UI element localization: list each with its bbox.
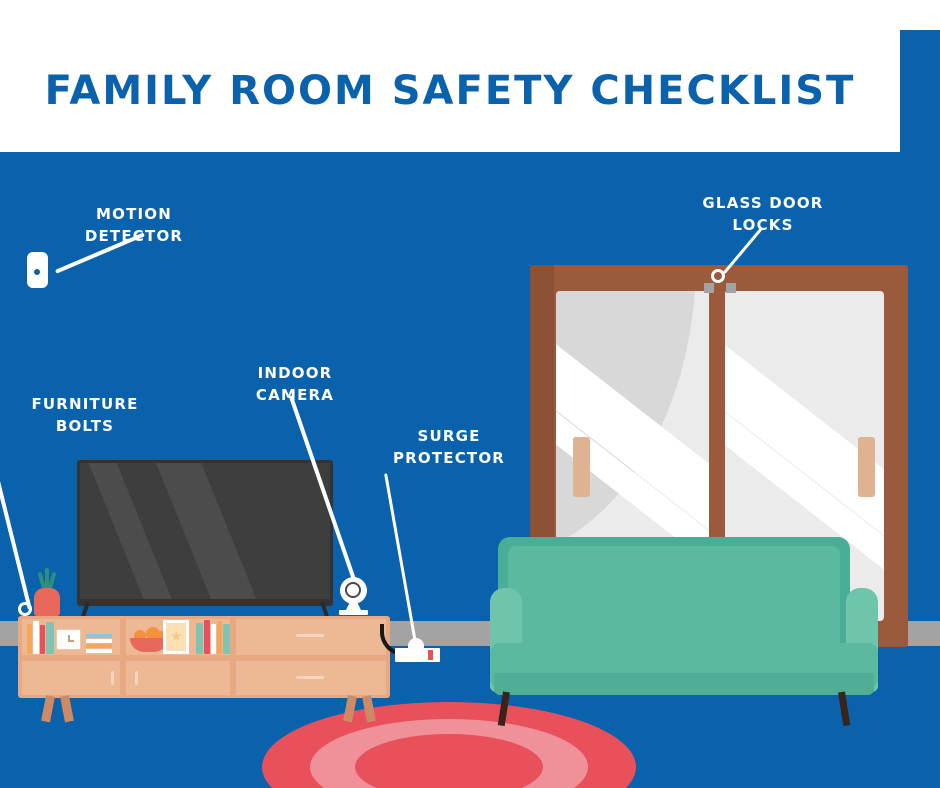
top-white-strip — [0, 0, 940, 30]
shelf-book — [211, 624, 216, 654]
shelf-clock — [56, 629, 81, 650]
callout-label-glass-door-locks: GLASS DOOR LOCKS — [690, 192, 836, 236]
callout-label-surge-protector: SURGE PROTECTOR — [376, 425, 522, 469]
shelf-book — [196, 623, 203, 654]
power-strip-icon[interactable] — [395, 648, 440, 662]
drawer-pull[interactable] — [135, 671, 138, 685]
stacked-book — [86, 649, 112, 653]
drawer-pull[interactable] — [296, 634, 324, 637]
stacked-book — [86, 639, 112, 643]
clock-hand-hour — [68, 640, 74, 642]
shelf-book — [27, 624, 32, 654]
shelf-book — [46, 622, 54, 654]
webcam-base — [339, 610, 368, 615]
stacked-book — [86, 644, 112, 648]
callout-label-furniture-bolts: FURNITURE BOLTS — [12, 393, 158, 437]
sofa-skirt — [494, 673, 874, 695]
power-strip-switch[interactable] — [428, 650, 433, 660]
title-banner: FAMILY ROOM SAFETY CHECKLIST — [0, 30, 900, 152]
camera-lens-icon — [345, 582, 361, 598]
tv-screen — [80, 463, 330, 599]
drawer-pull[interactable] — [111, 671, 114, 685]
door-handle-left[interactable] — [573, 437, 590, 497]
console-drawer[interactable] — [22, 661, 120, 695]
television — [77, 460, 333, 606]
callout-label-indoor-camera: INDOOR CAMERA — [222, 362, 368, 406]
door-handle-right[interactable] — [858, 437, 875, 497]
console-drawer[interactable] — [236, 619, 386, 655]
page-title: FAMILY ROOM SAFETY CHECKLIST — [45, 68, 856, 114]
drawer-pull[interactable] — [296, 676, 324, 679]
door-lock-icon[interactable] — [704, 283, 714, 293]
shelf-book — [33, 621, 39, 654]
infographic-canvas: ★ MOTION DETECTOR GLASS DOOR LOCKS FURNI… — [0, 0, 940, 788]
shelf-book — [204, 620, 210, 654]
callout-label-motion-detector: MOTION DETECTOR — [62, 203, 206, 247]
console-drawer[interactable] — [126, 661, 230, 695]
callout-marker-glass-door-locks — [711, 269, 725, 283]
shelf-book — [217, 621, 222, 654]
stacked-book — [86, 634, 112, 638]
motion-sensor-led — [34, 269, 40, 275]
shelf-book — [40, 625, 45, 654]
star-icon: ★ — [170, 630, 182, 642]
tv-screen-glint — [146, 463, 271, 599]
callout-marker-furniture-bolts — [18, 602, 32, 616]
door-lock-icon[interactable] — [726, 283, 736, 293]
shelf-book — [223, 624, 230, 654]
plant-pot — [34, 588, 60, 616]
sofa-backrest-cushion — [508, 546, 840, 643]
